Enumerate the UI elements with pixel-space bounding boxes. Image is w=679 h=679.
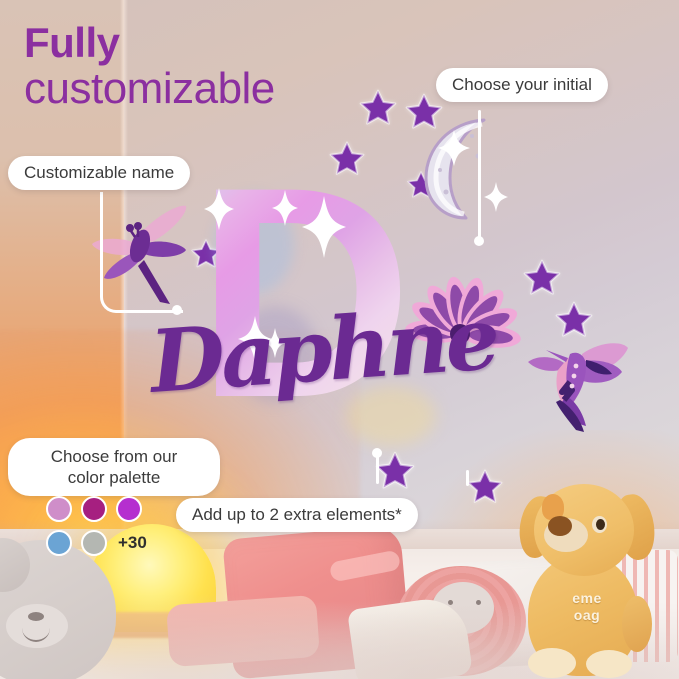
star-icon bbox=[466, 468, 504, 506]
sparkle-icon bbox=[204, 188, 234, 230]
callout-extra-elements[interactable]: Add up to 2 extra elements* bbox=[176, 498, 418, 532]
hummingbird-icon bbox=[524, 336, 632, 436]
swatch-orchid-pink[interactable] bbox=[46, 496, 72, 522]
dog-plush-embroidery-line2: oag bbox=[548, 607, 626, 624]
callout-choose-initial[interactable]: Choose your initial bbox=[436, 68, 608, 102]
star-icon bbox=[358, 88, 398, 128]
dog-plush-nose bbox=[548, 516, 572, 536]
star-icon bbox=[554, 300, 594, 340]
page-title-line2: customizable bbox=[24, 67, 275, 112]
dog-plush-pupil bbox=[596, 519, 605, 530]
color-palette-row-2: +30 bbox=[46, 530, 176, 556]
sparkle-icon bbox=[302, 196, 346, 258]
callout-color-palette[interactable]: Choose from our color palette bbox=[8, 438, 220, 496]
swatch-bright-purple[interactable] bbox=[116, 496, 142, 522]
callout-color-palette-line1: Choose from our bbox=[51, 447, 178, 466]
dog-plush-foot-left bbox=[528, 648, 576, 678]
callout-customizable-name[interactable]: Customizable name bbox=[8, 156, 190, 190]
sparkle-icon bbox=[272, 190, 298, 226]
page-title-line1: Fully bbox=[24, 22, 275, 65]
swatch-sky-blue[interactable] bbox=[46, 530, 72, 556]
swatch-more-count[interactable]: +30 bbox=[118, 533, 147, 553]
connector-customizable-name bbox=[100, 192, 183, 313]
dog-plush-foot-right bbox=[586, 650, 632, 678]
color-palette-row-1 bbox=[46, 496, 176, 522]
callout-color-palette-line2: color palette bbox=[68, 468, 161, 487]
swatch-silver-gray[interactable] bbox=[81, 530, 107, 556]
dog-plush-embroidery: eme oag bbox=[548, 590, 626, 624]
star-icon bbox=[522, 258, 562, 298]
page-title: Fully customizable bbox=[24, 22, 275, 112]
dog-plush-embroidery-line1: eme bbox=[548, 590, 626, 607]
color-palette-swatches[interactable]: +30 bbox=[46, 496, 176, 564]
swatch-magenta[interactable] bbox=[81, 496, 107, 522]
dog-plush-arm bbox=[622, 596, 652, 652]
product-lifestyle-image: eme oag Fully customizable bbox=[0, 0, 679, 679]
